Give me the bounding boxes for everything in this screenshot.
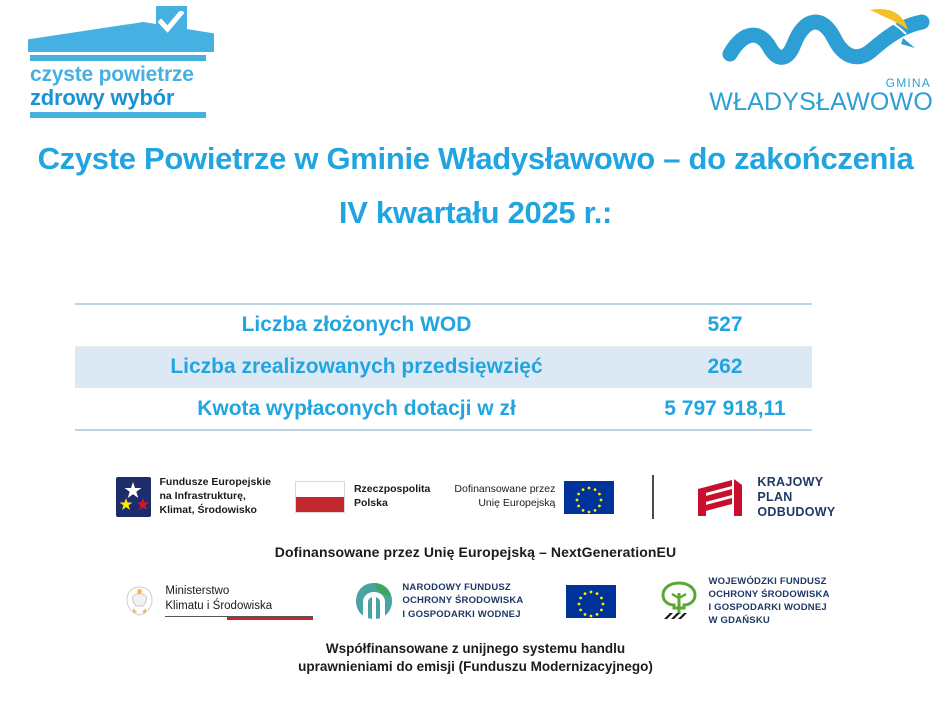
eu-cofunding-label: Dofinansowane przez Unię Europejską <box>454 483 555 511</box>
wave-w-with-sail-icon <box>722 4 937 82</box>
polish-eagle-icon <box>121 582 158 620</box>
wfosigw-gdansk-label: WOJEWÓDZKI FUNDUSZ OCHRONY ŚRODOWISKA I … <box>709 575 830 627</box>
house-with-checkmark-icon <box>28 6 214 52</box>
eu-funds-label: Fundusze Europejskie na Infrastrukturę, … <box>160 476 271 518</box>
eu-flag-icon <box>564 481 614 514</box>
czyste-powietrze-line2: zdrowy wybór <box>30 86 218 112</box>
wfosigw-tree-icon <box>658 581 700 621</box>
header-logos: czyste powietrze zdrowy wybór GMINA WŁAD… <box>0 0 951 120</box>
nextgenerationeu-note: Dofinansowane przez Unię Europejską – Ne… <box>0 544 951 560</box>
czyste-powietrze-line1: czyste powietrze <box>30 61 218 86</box>
czyste-powietrze-logo: czyste powietrze zdrowy wybór <box>28 6 218 110</box>
vertical-divider <box>652 475 654 519</box>
eu-cofunding-logo: Dofinansowane przez Unię Europejską <box>454 481 614 514</box>
funding-logo-row-primary: Fundusze Europejskie na Infrastrukturę, … <box>0 466 951 528</box>
krajowy-plan-odbudowy-label: KRAJOWY PLAN ODBUDOWY <box>757 475 835 520</box>
table-row: Liczba złożonych WOD 527 <box>75 304 812 346</box>
krajowy-plan-odbudowy-logo: KRAJOWY PLAN ODBUDOWY <box>692 475 835 520</box>
ministry-climate-logo: Ministerstwo Klimatu i Środowiska <box>121 582 313 621</box>
ministry-rule <box>165 616 313 620</box>
poland-flag-icon <box>295 481 345 513</box>
ministry-climate-label: Ministerstwo Klimatu i Środowiska <box>165 584 313 614</box>
table-row: Liczba zrealizowanych przedsięwzięć 262 <box>75 346 812 388</box>
wfosigw-gdansk-logo: WOJEWÓDZKI FUNDUSZ OCHRONY ŚRODOWISKA I … <box>658 575 830 627</box>
statistics-table: Liczba złożonych WOD 527 Liczba zrealizo… <box>75 303 812 431</box>
eu-funds-stars-icon <box>116 477 151 517</box>
page-title-line2: IV kwartału 2025 r.: <box>6 186 945 240</box>
checkmark-icon <box>158 11 184 33</box>
krajowy-plan-odbudowy-icon <box>692 476 748 518</box>
row-value: 5 797 918,11 <box>638 388 812 430</box>
nfosigw-tree-icon <box>355 582 393 620</box>
row-label: Kwota wypłaconych dotacji w zł <box>75 388 638 430</box>
poland-logo: Rzeczpospolita Polska <box>295 481 430 513</box>
nfosigw-logo: NARODOWY FUNDUSZ OCHRONY ŚRODOWISKA I GO… <box>355 581 523 620</box>
eu-funds-logo: Fundusze Europejskie na Infrastrukturę, … <box>116 476 271 518</box>
row-label: Liczba złożonych WOD <box>75 304 638 346</box>
eu-flag-icon <box>566 585 616 618</box>
page-title: Czyste Powietrze w Gminie Władysławowo –… <box>0 132 951 241</box>
page-title-line1: Czyste Powietrze w Gminie Władysławowo –… <box>38 141 914 176</box>
row-value: 527 <box>638 304 812 346</box>
gmina-wladyslawowo-logo: GMINA WŁADYSŁAWOWO <box>722 4 937 116</box>
funding-logo-row-secondary: Ministerstwo Klimatu i Środowiska NARODO… <box>0 576 951 626</box>
poland-label: Rzeczpospolita Polska <box>354 483 430 511</box>
logo-bar-bottom <box>30 112 206 118</box>
cofinance-note: Współfinansowane z unijnego systemu hand… <box>0 640 951 676</box>
row-value: 262 <box>638 346 812 388</box>
footer-logos: Fundusze Europejskie na Infrastrukturę, … <box>0 466 951 676</box>
gmina-name: WŁADYSŁAWOWO <box>709 88 933 117</box>
row-label: Liczba zrealizowanych przedsięwzięć <box>75 346 638 388</box>
nfosigw-label: NARODOWY FUNDUSZ OCHRONY ŚRODOWISKA I GO… <box>402 581 523 620</box>
table-row: Kwota wypłaconych dotacji w zł 5 797 918… <box>75 388 812 430</box>
